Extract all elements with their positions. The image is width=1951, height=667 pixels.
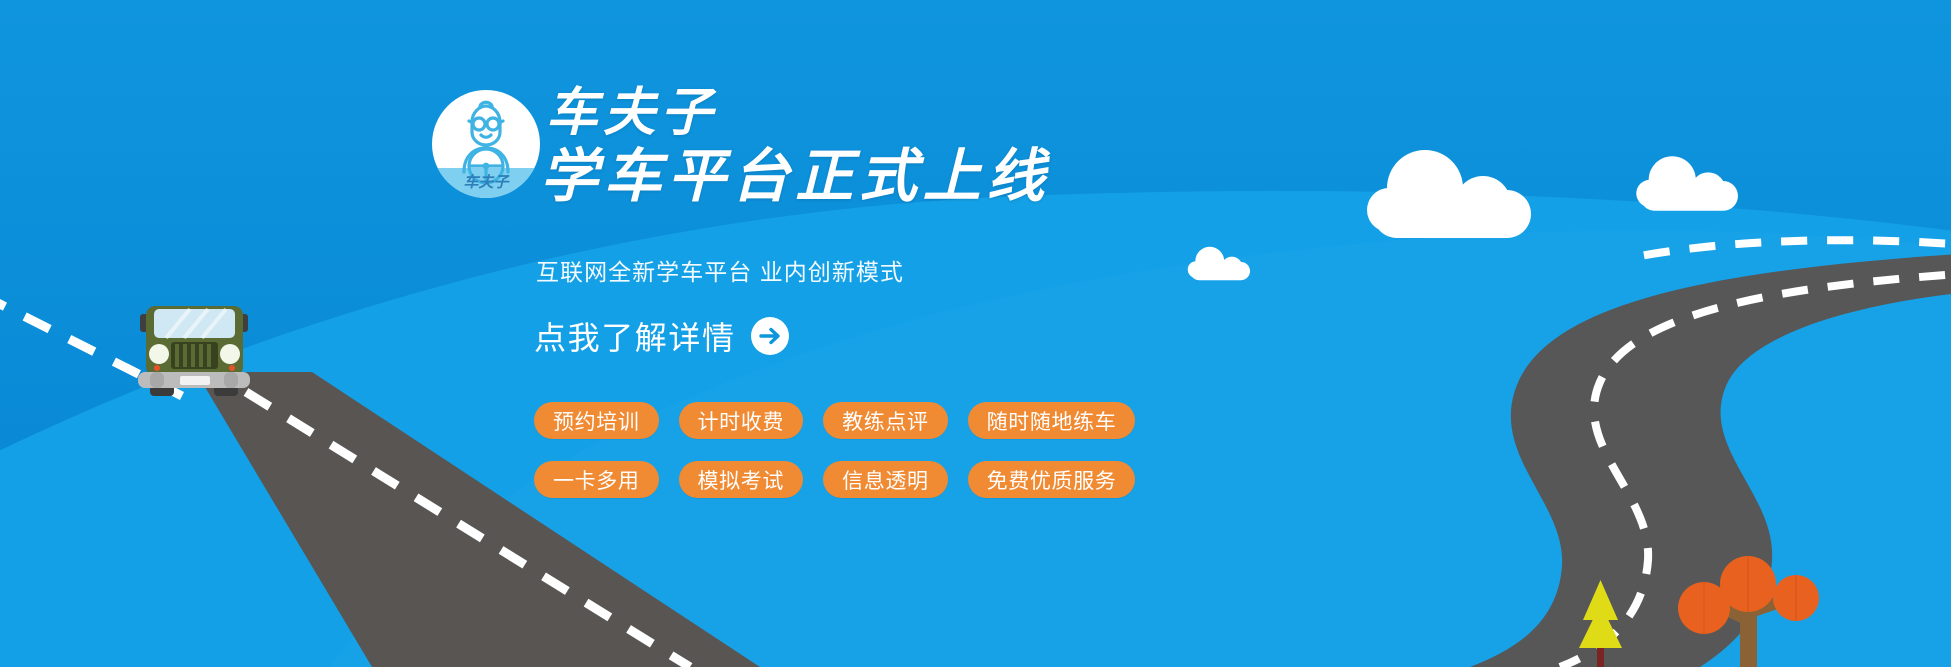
feature-tag[interactable]: 免费优质服务 [968,461,1136,498]
feature-tag-row-1: 预约培训 计时收费 教练点评 随时随地练车 [534,402,1135,439]
arrow-right-circle-icon[interactable] [750,316,790,356]
brand-logo[interactable]: 车夫子 [430,88,542,200]
jeep-plate [180,376,210,385]
feature-tags: 预约培训 计时收费 教练点评 随时随地练车 一卡多用 模拟考试 信息透明 免费优… [534,402,1135,498]
brand-title: 车夫子 [546,86,1320,139]
feature-tag[interactable]: 计时收费 [679,402,804,439]
feature-tag[interactable]: 预约培训 [534,402,659,439]
jeep-headlight-right [220,344,240,364]
feature-tag[interactable]: 信息透明 [823,461,948,498]
feature-tag[interactable]: 模拟考试 [679,461,804,498]
logo-badge-text: 车夫子 [463,173,510,191]
tagline-title: 学车平台正式上线 [540,147,1320,206]
promo-banner: 车夫子 车夫子 学车平台正式上线 互联网全新学车平台 业内创新模式 点我了解详情… [0,0,1951,667]
feature-tag[interactable]: 一卡多用 [534,461,659,498]
feature-tag[interactable]: 随时随地练车 [968,402,1136,439]
cta-label: 点我了解详情 [534,313,736,359]
subtitle-text: 互联网全新学车平台 业内创新模式 [536,253,904,287]
feature-tag-row-2: 一卡多用 模拟考试 信息透明 免费优质服务 [534,461,1135,498]
jeep-icon [138,306,250,396]
headline-block: 车夫子 学车平台正式上线 [540,86,1320,206]
feature-tag[interactable]: 教练点评 [823,402,948,439]
jeep-headlight-left [149,344,169,364]
cta-learn-more-button[interactable]: 点我了解详情 [534,313,790,359]
